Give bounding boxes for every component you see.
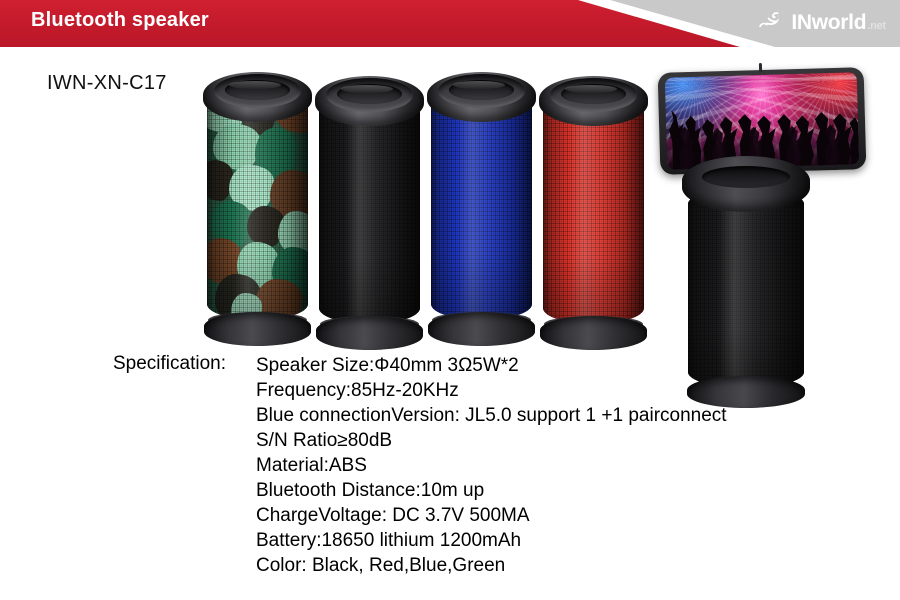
specification-list: Speaker Size:Φ40mm 3Ω5W*2 Frequency:85Hz… [256, 353, 727, 578]
spec-line: S/N Ratio≥80dB [256, 428, 727, 453]
blue-speaker-body [431, 92, 532, 320]
camouflage-speaker [203, 64, 312, 346]
inworld-swoosh-icon [755, 10, 787, 32]
red-fabric [543, 96, 644, 324]
black-speaker-body [319, 96, 420, 324]
blue-speaker-base [428, 312, 535, 346]
black-fabric [319, 96, 420, 324]
spec-line: Bluetooth Distance:10m up [256, 478, 727, 503]
spec-line: Frequency:85Hz-20KHz [256, 378, 727, 403]
brand-logo: INworld .net [755, 7, 886, 33]
header-banner: Bluetooth speaker INworld .net [0, 0, 900, 47]
spec-line: ChargeVoltage: DC 3.7V 500MA [256, 503, 727, 528]
brand-name: INworld [791, 12, 866, 33]
spec-line: Color: Black, Red,Blue,Green [256, 553, 727, 578]
model-number: IWN-XN-C17 [47, 72, 167, 95]
camouflage-speaker-top-cap [203, 64, 312, 126]
black-speaker-top-cap [315, 68, 424, 130]
red-speaker-top-cap [539, 68, 648, 130]
black-speaker-base [316, 316, 423, 350]
black-speaker [315, 68, 424, 350]
spec-line: Battery:18650 lithium 1200mAh [256, 528, 727, 553]
phone-holder-slot [702, 166, 790, 188]
spec-line: Material:ABS [256, 453, 727, 478]
blue-speaker [427, 64, 536, 346]
camouflage-fabric [207, 92, 308, 320]
red-speaker-base [540, 316, 647, 350]
blue-speaker-top-cap [427, 64, 536, 126]
camouflage-speaker-body [207, 92, 308, 320]
blue-fabric [431, 92, 532, 320]
spec-line: Speaker Size:Φ40mm 3Ω5W*2 [256, 353, 727, 378]
specification-label: Specification: [113, 353, 226, 375]
camouflage-speaker-base [204, 312, 311, 346]
red-speaker-body [543, 96, 644, 324]
stand-speaker-top-cap [682, 156, 810, 212]
brand-tld: .net [867, 20, 886, 32]
page-title: Bluetooth speaker [31, 9, 209, 32]
phone-antenna-nub [759, 63, 762, 72]
red-speaker [539, 68, 648, 350]
spec-line: Blue connectionVersion: JL5.0 support 1 … [256, 403, 727, 428]
